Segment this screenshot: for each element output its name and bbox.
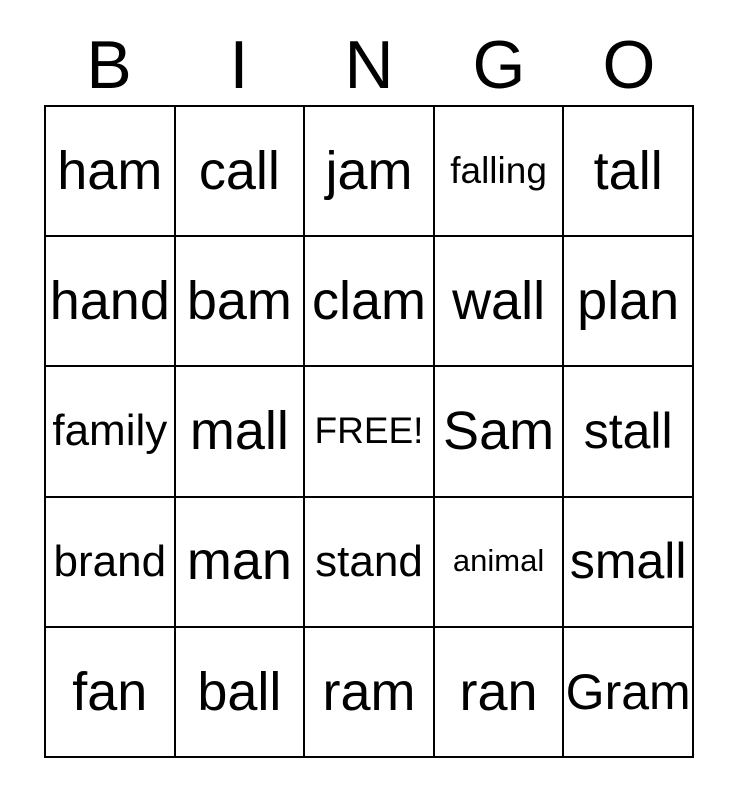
bingo-cell-label: Sam [443,403,554,460]
bingo-row: hand bam clam wall plan [46,237,694,367]
bingo-header: B I N G O [44,24,694,105]
bingo-cell-label: bam [187,273,292,330]
bingo-cell[interactable]: ham [46,107,176,237]
bingo-cell[interactable]: plan [564,237,694,367]
bingo-grid: ham call jam falling tall hand bam clam … [44,105,694,758]
bingo-cell[interactable]: stand [305,498,435,628]
bingo-cell[interactable]: falling [435,107,565,237]
bingo-cell[interactable]: Sam [435,367,565,497]
bingo-cell[interactable]: fan [46,628,176,758]
bingo-cell[interactable]: bam [176,237,306,367]
bingo-cell-label: ham [57,143,162,200]
bingo-cell[interactable]: stall [564,367,694,497]
bingo-card: B I N G O ham call jam falling tall hand… [0,0,736,800]
free-space-label: FREE! [315,412,424,451]
bingo-cell[interactable]: wall [435,237,565,367]
bingo-cell[interactable]: mall [176,367,306,497]
bingo-cell[interactable]: hand [46,237,176,367]
bingo-cell-label: brand [54,539,167,585]
bingo-cell-free[interactable]: FREE! [305,367,435,497]
bingo-cell[interactable]: jam [305,107,435,237]
bingo-cell-label: small [570,535,687,588]
bingo-cell-label: family [52,408,167,454]
bingo-cell[interactable]: animal [435,498,565,628]
bingo-cell-label: Gram [566,666,691,719]
header-letter-o: O [564,24,694,105]
bingo-cell[interactable]: man [176,498,306,628]
bingo-cell-label: mall [190,403,289,460]
bingo-cell[interactable]: ran [435,628,565,758]
bingo-cell-label: stand [315,539,423,585]
bingo-cell[interactable]: tall [564,107,694,237]
bingo-cell-label: ram [322,664,415,721]
bingo-cell[interactable]: clam [305,237,435,367]
bingo-row: brand man stand animal small [46,498,694,628]
bingo-cell-label: wall [452,273,545,330]
bingo-cell-label: falling [450,152,547,191]
bingo-cell-label: jam [325,143,412,200]
bingo-cell-label: tall [594,143,663,200]
bingo-cell-label: clam [312,273,426,330]
bingo-cell[interactable]: brand [46,498,176,628]
bingo-cell[interactable]: family [46,367,176,497]
bingo-cell-label: ball [197,664,281,721]
header-letter-b: B [44,24,174,105]
bingo-cell-label: man [187,533,292,590]
bingo-cell[interactable]: small [564,498,694,628]
bingo-row: family mall FREE! Sam stall [46,367,694,497]
bingo-cell[interactable]: call [176,107,306,237]
bingo-cell[interactable]: Gram [564,628,694,758]
bingo-cell-label: stall [584,405,673,458]
bingo-cell-label: plan [577,273,679,330]
header-letter-n: N [304,24,434,105]
header-letter-g: G [434,24,564,105]
bingo-cell-label: call [199,143,280,200]
bingo-row: fan ball ram ran Gram [46,628,694,758]
bingo-cell-label: ran [460,664,538,721]
bingo-cell[interactable]: ram [305,628,435,758]
bingo-cell-label: hand [50,273,170,330]
bingo-cell-label: fan [72,664,147,721]
bingo-row: ham call jam falling tall [46,107,694,237]
header-letter-i: I [174,24,304,105]
bingo-cell-label: animal [453,545,544,578]
bingo-cell[interactable]: ball [176,628,306,758]
